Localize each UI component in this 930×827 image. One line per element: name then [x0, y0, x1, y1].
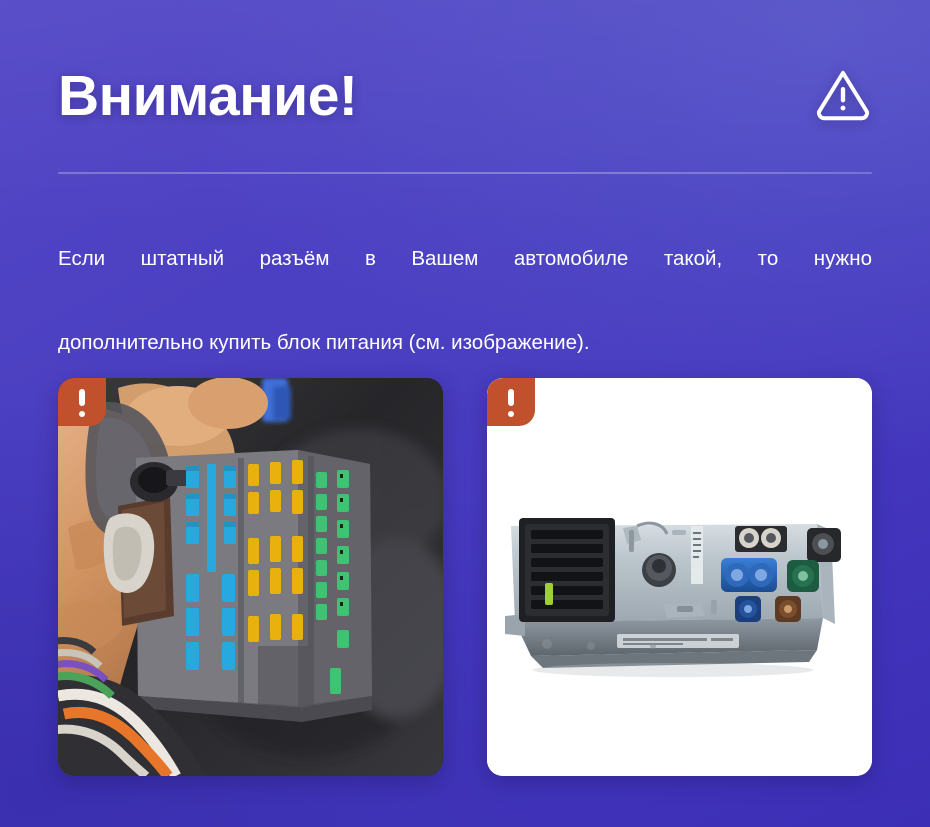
- power-supply-unit-image: [487, 378, 872, 776]
- image-card-row: [58, 378, 872, 776]
- exclamation-dot: [79, 411, 85, 417]
- attention-banner: Внимание! Если штатный разъём в Вашем ав…: [0, 0, 930, 827]
- card-stock-connector[interactable]: [58, 378, 443, 776]
- exclamation-bar: [508, 389, 514, 406]
- header-divider: [58, 172, 872, 174]
- exclamation-icon: [487, 378, 535, 426]
- banner-header: Внимание!: [58, 50, 872, 142]
- body-text: Если штатный разъём в Вашем автомобиле т…: [58, 238, 872, 364]
- stock-connector-image: [58, 378, 443, 776]
- card-power-supply-unit[interactable]: [487, 378, 872, 776]
- exclamation-icon: [58, 378, 106, 426]
- exclamation-bar: [79, 389, 85, 406]
- body-text-line-1: Если штатный разъём в Вашем автомобиле т…: [58, 238, 872, 322]
- body-text-line-2: дополнительно купить блок питания (см. и…: [58, 322, 872, 364]
- exclamation-dot: [508, 411, 514, 417]
- page-title: Внимание!: [58, 68, 357, 125]
- warning-triangle-icon: [814, 67, 872, 125]
